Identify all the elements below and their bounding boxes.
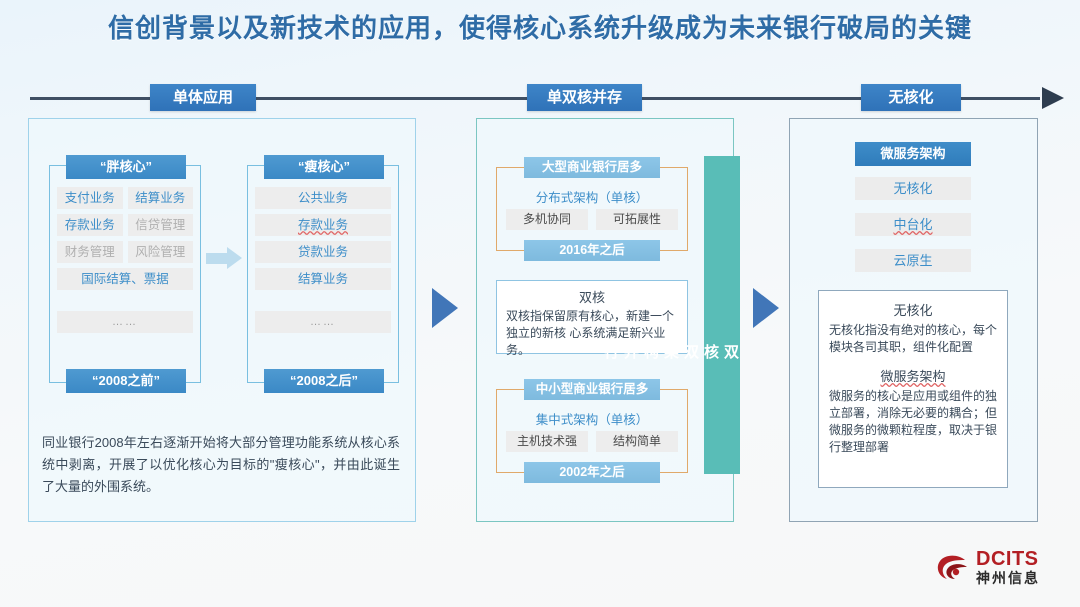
vertical-bar-label: 双核双架构并行 <box>704 344 740 359</box>
dual-core-parallel-bar: 双核双架构并行 <box>704 156 740 474</box>
timeline-stage-3[interactable]: 无核化 <box>861 84 961 111</box>
note-gap <box>829 356 997 364</box>
arch-group-large-bank: 大型商业银行居多 分布式架构（单核） 多机协同 可拓展性 2016年之后 <box>496 157 688 261</box>
company-logo: DCITS 神州信息 <box>936 547 1062 593</box>
logo-text-en: DCITS <box>976 549 1040 570</box>
core-row: …… <box>255 311 391 333</box>
group-tag[interactable]: 结构简单 <box>596 431 678 452</box>
stage3-item[interactable]: 中台化 <box>855 213 971 236</box>
logo-text-cn: 神州信息 <box>976 570 1040 587</box>
group-tag[interactable]: 主机技术强 <box>506 431 588 452</box>
core-cell[interactable]: 国际结算、票据 <box>57 268 193 290</box>
core-row: 财务管理 风险管理 <box>57 241 193 263</box>
arch-group-small-bank: 中小型商业银行居多 集中式架构（单核） 主机技术强 结构简单 2002年之后 <box>496 379 688 483</box>
core-row: 存款业务 <box>255 214 391 236</box>
note-body-2: 微服务的核心是应用或组件的独立部署，消除无必要的耦合；但微服务的微颗粒程度，取决… <box>829 388 997 456</box>
core-bottom-label: “2008之前” <box>66 369 186 393</box>
group-tag-list: 多机协同 可拓展性 <box>506 209 678 230</box>
core-row: 公共业务 <box>255 187 391 209</box>
timeline: 单体应用 单双核并存 无核化 <box>0 84 1080 112</box>
group-subtitle: 集中式架构（单核） <box>496 409 688 428</box>
core-cell[interactable]: 存款业务 <box>255 214 391 236</box>
core-top-label: “瘦核心” <box>264 155 384 179</box>
timeline-stage-1[interactable]: 单体应用 <box>150 84 256 111</box>
core-row: …… <box>57 311 193 333</box>
core-top-label: “胖核心” <box>66 155 186 179</box>
arrow-shaft <box>206 253 228 264</box>
group-subtitle: 分布式架构（单核） <box>496 187 688 206</box>
note-title-1: 无核化 <box>829 300 997 319</box>
stage3-item[interactable]: 云原生 <box>855 249 971 272</box>
timeline-arrow-icon <box>1042 87 1064 109</box>
panel-arrow-2-icon <box>753 288 779 328</box>
core-row: 国际结算、票据 <box>57 268 193 290</box>
timeline-stage-2[interactable]: 单双核并存 <box>527 84 642 111</box>
core-block-fat: “胖核心” 支付业务 结算业务 存款业务 信贷管理 财务管理 风险管理 国际结算… <box>49 155 201 393</box>
core-cell[interactable]: 信贷管理 <box>128 214 194 236</box>
core-row: 结算业务 <box>255 268 391 290</box>
group-tag[interactable]: 可拓展性 <box>596 209 678 230</box>
core-row: 存款业务 信贷管理 <box>57 214 193 236</box>
core-cell[interactable]: 结算业务 <box>128 187 194 209</box>
stage-1-caption: 同业银行2008年左右逐渐开始将大部分管理功能系统从核心系统中剥离，开展了以优化… <box>42 432 400 498</box>
note-title-2: 微服务架构 <box>829 366 997 385</box>
core-cell[interactable]: 存款业务 <box>57 214 123 236</box>
core-cell-ellipsis: …… <box>57 311 193 333</box>
core-row: 贷款业务 <box>255 241 391 263</box>
group-bottom-label: 2002年之后 <box>524 462 660 483</box>
note-title: 双核 <box>506 287 678 306</box>
stage3-item[interactable]: 无核化 <box>855 177 971 200</box>
core-cell[interactable]: 支付业务 <box>57 187 123 209</box>
group-bottom-label: 2016年之后 <box>524 240 660 261</box>
arrow-head <box>227 247 242 269</box>
page-title: 信创背景以及新技术的应用，使得核心系统升级成为未来银行破局的关键 <box>0 8 1080 45</box>
core-item-list: 支付业务 结算业务 存款业务 信贷管理 财务管理 风险管理 国际结算、票据 …… <box>57 187 193 361</box>
core-spacer <box>255 295 391 311</box>
core-cell[interactable]: 风险管理 <box>128 241 194 263</box>
transition-arrow-icon <box>206 247 242 269</box>
core-cell[interactable]: 财务管理 <box>57 241 123 263</box>
note-body-1: 无核化指没有绝对的核心，每个模块各司其职，组件化配置 <box>829 322 997 356</box>
group-tag-list: 主机技术强 结构简单 <box>506 431 678 452</box>
core-cell-ellipsis: …… <box>255 311 391 333</box>
core-spacer <box>57 295 193 311</box>
group-top-label: 大型商业银行居多 <box>524 157 660 178</box>
group-top-label: 中小型商业银行居多 <box>524 379 660 400</box>
core-block-thin: “瘦核心” 公共业务 存款业务 贷款业务 结算业务 …… “2008之后” <box>247 155 399 393</box>
core-cell[interactable]: 结算业务 <box>255 268 391 290</box>
core-bottom-label: “2008之后” <box>264 369 384 393</box>
microservice-head-label: 微服务架构 <box>855 142 971 166</box>
core-item-list: 公共业务 存款业务 贷款业务 结算业务 …… <box>255 187 391 361</box>
core-cell[interactable]: 贷款业务 <box>255 241 391 263</box>
dual-core-note: 双核 双核指保留原有核心，新建一个独立的新核 心系统满足新兴业务。 <box>496 280 688 354</box>
core-row: 支付业务 结算业务 <box>57 187 193 209</box>
logo-text: DCITS 神州信息 <box>976 549 1040 587</box>
core-cell[interactable]: 公共业务 <box>255 187 391 209</box>
coreless-note: 无核化 无核化指没有绝对的核心，每个模块各司其职，组件化配置 微服务架构 微服务… <box>818 290 1008 488</box>
panel-arrow-1-icon <box>432 288 458 328</box>
dcits-swirl-icon <box>936 553 970 585</box>
group-tag[interactable]: 多机协同 <box>506 209 588 230</box>
